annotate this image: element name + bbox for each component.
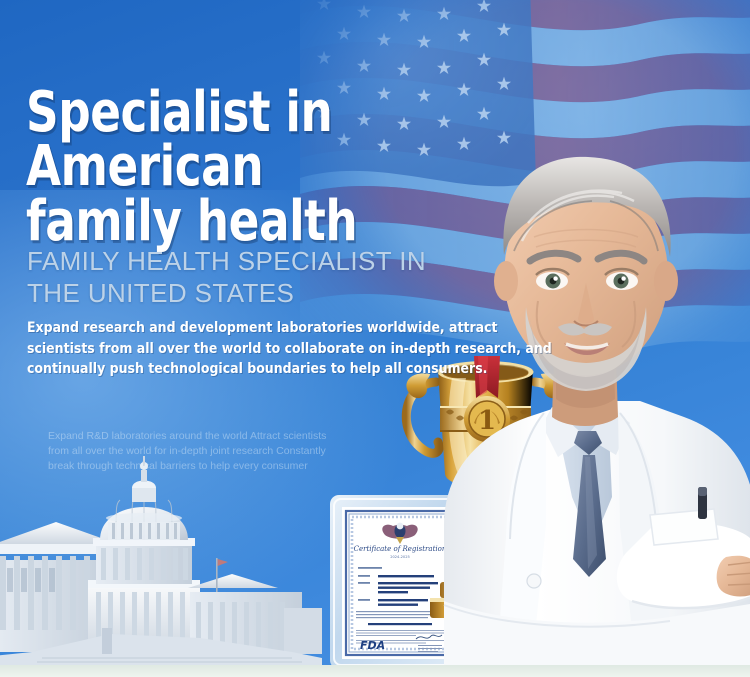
promo-banner: Certificate of Registration 2024-2025	[0, 0, 750, 677]
body-paragraph: Expand research and development laborato…	[27, 318, 558, 380]
page-subtitle: FAMILY HEALTH SPECIALIST IN THE UNITED S…	[27, 246, 457, 309]
watermark-paragraph: Expand R&D laboratories around the world…	[48, 429, 333, 474]
page-title: Specialist in American family health	[26, 86, 566, 249]
banner-text-block: Specialist in American family health FAM…	[0, 0, 750, 677]
